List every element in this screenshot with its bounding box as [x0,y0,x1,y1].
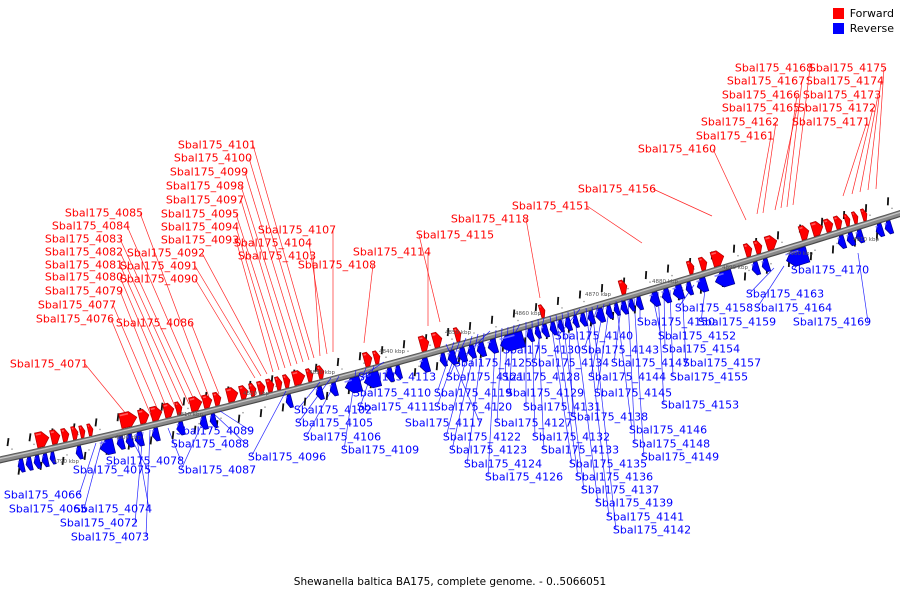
forward-gene-arrow[interactable] [291,369,306,386]
forward-gene-arrow[interactable] [305,368,314,382]
forward-gene-arrow[interactable] [753,240,763,254]
forward-gene-arrow[interactable] [202,394,214,409]
label-leader-line [843,122,867,196]
feature-tick [489,315,495,324]
label-leader-line [616,301,632,430]
reverse-gene-arrow[interactable] [845,232,856,246]
label-leader-line [763,122,776,213]
minor-tick-dot [649,281,651,283]
label-leader-line [120,265,183,406]
label-leader-line [858,253,868,322]
feature-tick [60,456,66,465]
reverse-gene-arrow[interactable] [49,452,57,465]
reverse-gene-arrow[interactable] [98,438,115,456]
minor-tick-dot [33,444,35,446]
forward-gene-arrow[interactable] [87,423,95,436]
forward-gene-arrow[interactable] [50,429,62,445]
forward-gene-arrow[interactable] [225,386,239,402]
minor-tick-dot [451,338,453,340]
feature-tick [555,296,562,305]
feature-tick [467,321,473,330]
minor-tick-dot [605,294,607,296]
label-leader-line [749,268,774,294]
forward-gene-arrow[interactable] [798,224,811,240]
reverse-gene-arrow[interactable] [475,342,486,358]
minor-tick-dot [264,406,266,408]
reverse-gene-arrow[interactable] [456,347,467,363]
label-leader-line [876,68,884,189]
genome-diagram-canvas[interactable] [0,0,900,600]
feature-tick [830,245,837,254]
minor-tick-dot [418,365,420,367]
minor-tick-dot [869,214,871,216]
feature-tick [302,397,308,406]
label-leader-line [213,413,246,444]
minor-tick-dot [891,208,893,210]
reverse-gene-arrow[interactable] [486,339,498,355]
minor-tick-dot [583,301,585,303]
minor-tick-dot [220,417,222,419]
forward-gene-arrow[interactable] [743,243,753,257]
label-leader-line [127,226,202,399]
feature-tick [599,284,606,293]
legend-item-reverse: Reverse [833,21,894,36]
label-leader-line [497,328,502,423]
feature-tick [731,244,738,253]
diagram-caption: Shewanella baltica BA175, complete genom… [0,576,900,588]
strand-legend: Forward Reverse [833,6,894,36]
legend-label-forward: Forward [850,6,894,21]
feature-tick [412,368,418,377]
feature-tick [401,340,407,349]
label-leader-line [195,266,261,376]
reverse-gene-arrow[interactable] [533,326,541,339]
minor-tick-dot [660,296,662,298]
minor-tick-dot [781,242,783,244]
minor-tick-dot [429,344,431,346]
forward-gene-arrow[interactable] [316,365,325,379]
feature-tick [335,358,341,367]
label-leader-line [113,305,160,415]
reverse-gene-arrow[interactable] [578,313,587,327]
minor-tick-dot [814,249,816,251]
forward-gene-arrow[interactable] [418,335,431,352]
label-leader-line [658,292,664,405]
minor-tick-dot [385,356,387,358]
label-leader-line [757,136,771,214]
forward-gene-arrow[interactable] [686,260,695,274]
reverse-gene-arrow[interactable] [125,434,135,448]
minor-tick-dot [187,408,189,410]
reverse-gene-arrow[interactable] [17,459,26,473]
forward-gene-arrow[interactable] [710,249,726,267]
label-leader-lines [79,68,884,537]
reverse-gene-arrow[interactable] [760,258,770,272]
label-leader-line [168,428,181,461]
feature-tick [5,438,11,447]
reverse-gene-arrow[interactable] [525,328,534,342]
reverse-gene-arrow[interactable] [328,383,338,397]
forward-gene-arrow[interactable] [833,215,844,229]
reverse-gene-arrow[interactable] [393,365,402,379]
feature-tick [27,433,33,442]
label-leader-line [146,430,150,537]
forward-gene-arrow[interactable] [362,351,373,367]
minor-tick-dot [836,243,838,245]
label-leader-line [236,240,273,372]
feature-tick [280,403,286,412]
reverse-gene-arrow[interactable] [594,308,606,324]
minor-tick-dot [198,423,200,425]
label-leader-line [556,315,578,477]
label-leader-line [713,149,746,220]
feature-tick [93,418,99,427]
legend-item-forward: Forward [833,6,894,21]
label-leader-line [202,253,267,374]
reverse-gene-arrow[interactable] [750,261,760,275]
reverse-gene-arrow[interactable] [116,436,126,450]
minor-tick-dot [495,326,497,328]
legend-label-reverse: Reverse [850,21,894,36]
forward-gene-arrow[interactable] [162,402,175,418]
minor-tick-dot [748,270,750,272]
forward-gene-arrow[interactable] [248,383,257,397]
reverse-gene-arrow[interactable] [540,324,549,338]
reverse-gene-arrow[interactable] [604,305,613,319]
forward-gene-arrow[interactable] [274,376,283,390]
genome-backbone [0,210,900,465]
minor-tick-dot [671,275,673,277]
feature-tick [379,346,385,355]
feature-tick [434,362,440,371]
minor-tick-dot [737,255,739,257]
label-leader-line [120,252,189,404]
feature-tick [511,309,517,318]
feature-tick [742,272,749,281]
minor-tick-dot [308,395,310,397]
minor-tick-dot [627,288,629,290]
reverse-gene-arrow[interactable] [418,358,430,374]
reverse-gene-arrow[interactable] [284,394,293,408]
reverse-gene-arrow[interactable] [571,315,579,328]
forward-gene-arrow[interactable] [698,256,708,270]
feature-tick [643,271,650,280]
label-leader-line [249,158,309,360]
minor-tick-dot [407,350,409,352]
label-leader-line [757,266,784,308]
reverse-gene-arrow[interactable] [33,455,42,469]
forward-gene-arrow[interactable] [823,218,834,233]
forward-gene-arrow[interactable] [71,426,80,440]
reverse-gene-arrow[interactable] [548,322,557,336]
minor-tick-dot [770,263,772,265]
forward-gene-arrow[interactable] [79,425,87,438]
forward-gene-arrow[interactable] [764,234,779,251]
label-leader-line [653,189,712,216]
reverse-gene-arrow[interactable] [25,457,34,471]
label-leader-line [634,298,644,457]
reverse-gene-arrow[interactable] [836,235,847,249]
label-leader-line [587,206,642,243]
feature-tick [258,409,264,418]
forward-gene-arrow[interactable] [843,213,851,226]
feature-tick [192,425,198,434]
forward-gene-arrow[interactable] [453,327,463,342]
label-leader-line [550,316,572,464]
minor-tick-dot [11,448,13,450]
reverse-gene-arrow[interactable] [75,446,84,460]
feature-tick [445,328,451,337]
forward-gene-arrow[interactable] [35,430,51,447]
reverse-gene-arrow[interactable] [176,422,186,436]
forward-gene-arrow[interactable] [239,385,250,400]
minor-tick-dot [242,412,244,414]
label-leader-line [628,299,635,444]
feature-tick [577,290,584,299]
label-leader-line [120,291,168,412]
feature-tick [885,197,892,206]
forward-gene-arrow[interactable] [282,374,291,388]
reverse-gene-arrow[interactable] [438,353,447,367]
label-leader-line [220,411,251,431]
minor-tick-dot [341,368,343,370]
feature-tick [775,231,782,240]
label-leader-line [526,219,540,298]
forward-color-swatch [833,8,844,19]
label-leader-line [120,239,195,402]
label-leader-line [195,279,255,378]
reverse-gene-arrow[interactable] [695,277,709,293]
forward-gene-arrow[interactable] [538,304,546,318]
forward-gene-arrow[interactable] [256,380,266,394]
feature-tick [665,264,672,273]
label-leader-line [860,95,878,192]
label-leader-line [236,227,279,370]
genome-map-view: Forward Reverse Sbal175_4071Sbal175_4076… [0,0,900,600]
minor-tick-dot [99,429,101,431]
reverse-color-swatch [833,23,844,34]
forward-gene-arrow[interactable] [372,350,381,364]
minor-tick-dot [594,316,596,318]
forward-gene-arrow[interactable] [431,331,444,348]
forward-gene-arrow[interactable] [265,378,275,392]
minor-tick-dot [66,454,68,456]
label-leader-line [309,243,327,354]
reverse-gene-arrow[interactable] [151,428,161,442]
label-leader-line [241,200,291,366]
forward-gene-arrow[interactable] [61,428,71,442]
label-leader-line [852,108,873,194]
label-leader-line [419,235,440,322]
reverse-gene-arrow[interactable] [671,284,685,300]
label-leader-line [775,108,797,210]
minor-tick-dot [473,332,475,334]
minor-tick-dot [561,307,563,309]
reverse-gene-arrow[interactable] [883,220,894,234]
label-leader-line [253,145,314,358]
label-leader-line [670,290,673,377]
reverse-gene-arrow[interactable] [384,368,394,383]
label-leader-line [236,214,285,368]
forward-gene-arrow[interactable] [860,208,868,221]
reverse-gene-arrow[interactable] [648,292,661,308]
label-leader-line [562,313,584,490]
forward-gene-arrows[interactable] [35,208,869,448]
minor-tick-dot [517,320,519,322]
forward-gene-arrow[interactable] [851,211,859,224]
label-leader-line [592,307,616,530]
minor-tick-dot [88,449,90,451]
reverse-gene-arrow[interactable] [874,223,885,237]
label-leader-line [364,265,373,343]
label-leader-line [85,364,131,420]
reverse-gene-arrow[interactable] [684,282,693,296]
forward-gene-arrow[interactable] [213,391,223,405]
label-leader-line [868,81,881,190]
feature-tick [533,303,540,312]
